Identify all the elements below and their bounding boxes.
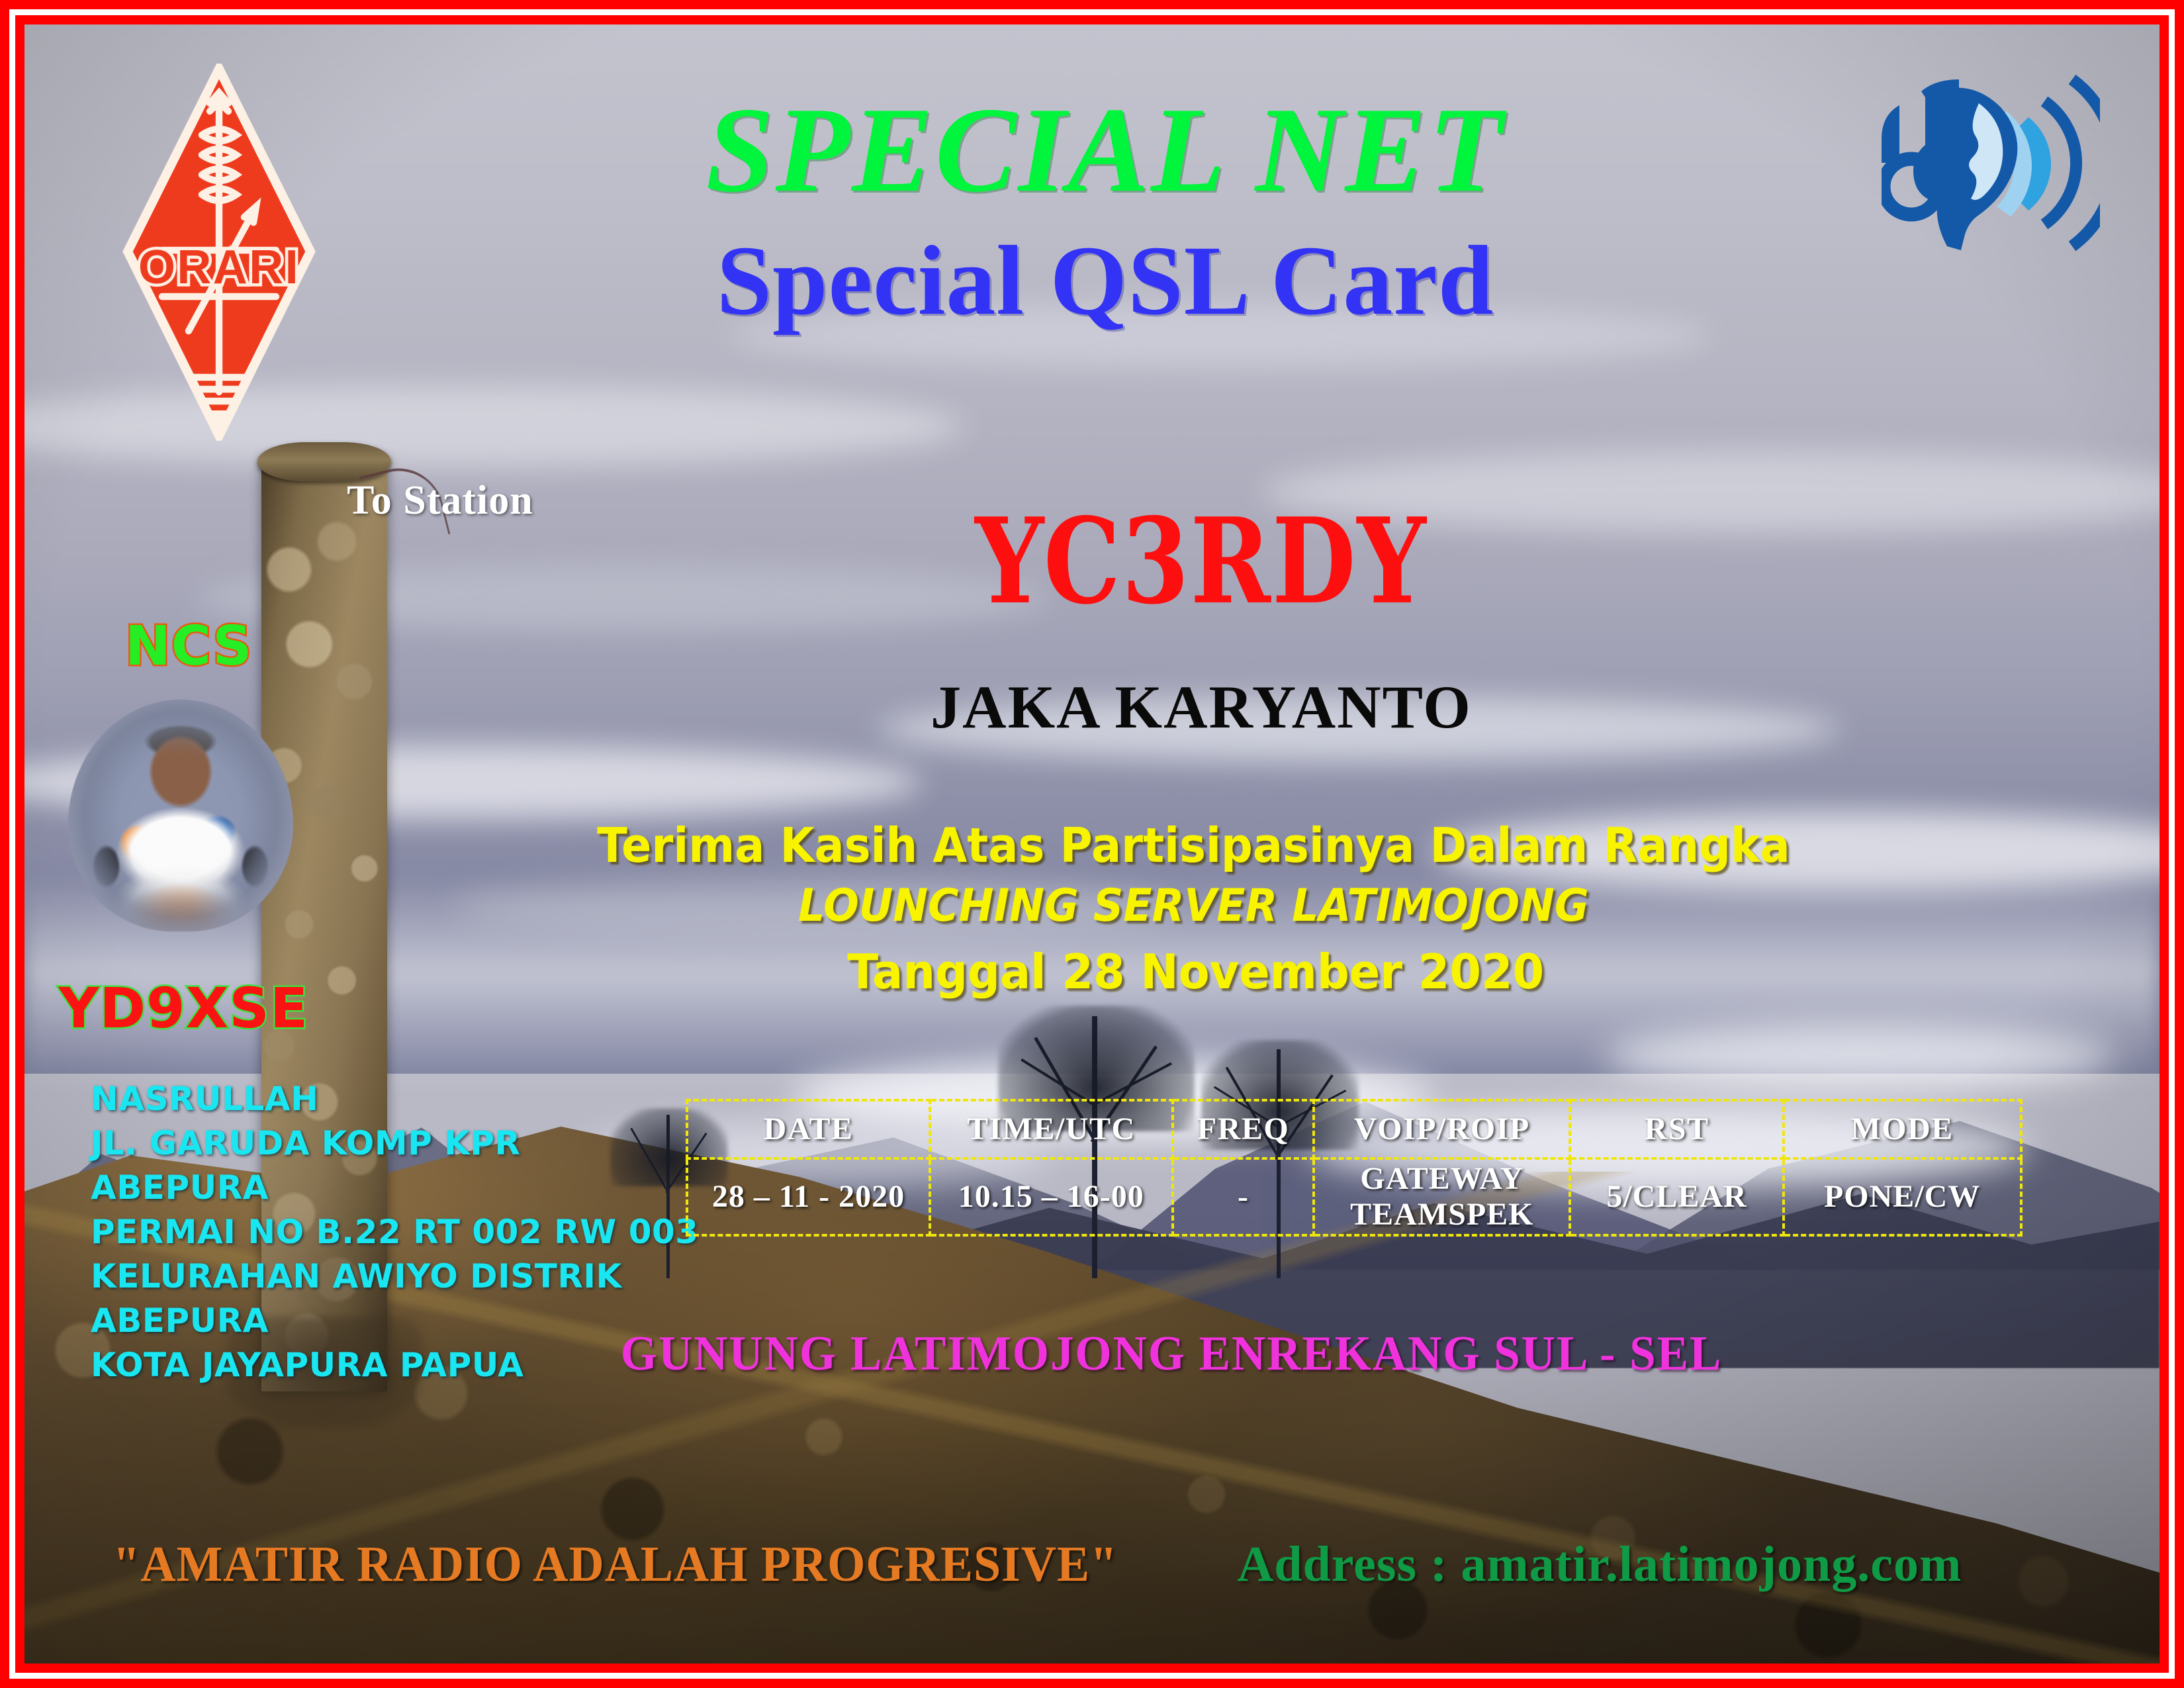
column-header-voip-roip: VOIP/ROIP xyxy=(1314,1100,1570,1158)
column-header-rst: RST xyxy=(1570,1100,1783,1158)
event-date-line: Tanggal 28 November 2020 xyxy=(78,944,2107,1000)
qso-log-table: DATE TIME/UTC FREQ VOIP/ROIP RST MODE 28… xyxy=(686,1099,2022,1237)
card-content-layer: ORARI xyxy=(24,24,2160,1664)
location-line: GUNUNG LATIMOJONG ENREKANG SUL - SEL xyxy=(68,1329,2117,1378)
cell-voip-roip-line2: TEAMSPEK xyxy=(1315,1197,1569,1233)
qsl-card-stage: ORARI xyxy=(24,24,2160,1664)
footer-slogan: "AMATIR RADIO ADALAH PROGRESIVE" xyxy=(113,1539,1117,1589)
table-header-row: DATE TIME/UTC FREQ VOIP/ROIP RST MODE xyxy=(687,1100,2021,1158)
recipient-callsign: YC3RDY xyxy=(24,503,2160,621)
column-header-time-utc: TIME/UTC xyxy=(930,1100,1173,1158)
event-name-line: LOUNCHING SERVER LATIMOJONG xyxy=(99,880,2085,932)
thanks-line-1: Terima Kasih Atas Partisipasinya Dalam R… xyxy=(99,818,2085,873)
table-row: 28 – 11 - 2020 10.15 – 16-00 - GATEWAY T… xyxy=(687,1158,2021,1235)
cell-voip-roip-line1: GATEWAY xyxy=(1315,1161,1569,1197)
cell-rst: 5/CLEAR xyxy=(1570,1158,1783,1235)
qsl-card-inner-border: ORARI xyxy=(15,15,2169,1673)
recipient-operator-name: JAKA KARYANTO xyxy=(24,677,2160,737)
column-header-mode: MODE xyxy=(1784,1100,2021,1158)
cell-voip-roip: GATEWAY TEAMSPEK xyxy=(1314,1158,1570,1235)
qsl-card-white-gap: ORARI xyxy=(9,9,2175,1679)
ncs-callsign: YD9XSE xyxy=(59,980,297,1036)
page-title-special-net: SPECIAL NET xyxy=(24,89,2160,211)
cell-freq: - xyxy=(1173,1158,1314,1235)
cell-time-utc: 10.15 – 16-00 xyxy=(930,1158,1173,1235)
page-subtitle-special-qsl-card: Special QSL Card xyxy=(24,231,2160,330)
column-header-freq: FREQ xyxy=(1173,1100,1314,1158)
ncs-label: NCS xyxy=(93,620,285,674)
qsl-card-outer-border: ORARI xyxy=(0,0,2184,1688)
cell-date: 28 – 11 - 2020 xyxy=(687,1158,930,1235)
cell-mode: PONE/CW xyxy=(1784,1158,2021,1235)
column-header-date: DATE xyxy=(687,1100,930,1158)
footer-web-address: Address : amatir.latimojong.com xyxy=(1237,1539,1962,1589)
